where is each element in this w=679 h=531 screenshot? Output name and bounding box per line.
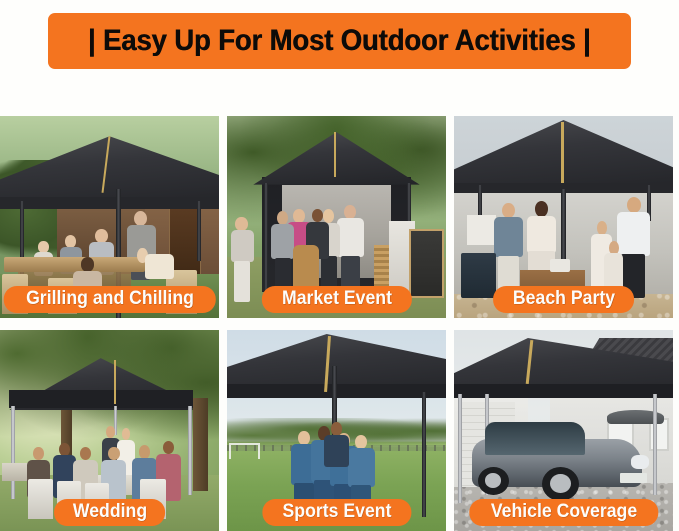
tree-trunk-right (193, 398, 208, 490)
person-torso (145, 254, 173, 279)
person-bystander-left (229, 217, 255, 302)
person-head (344, 205, 356, 219)
person-head (502, 203, 515, 218)
person-head (163, 441, 175, 455)
cell-label-text: Wedding (72, 501, 146, 523)
canopy-gold-trim (561, 122, 564, 183)
suv-license-plate (620, 473, 646, 483)
coach-torso (324, 435, 348, 467)
person-head (597, 221, 608, 235)
use-case-cell-wedding[interactable]: Wedding (0, 330, 219, 531)
person-torso (527, 216, 555, 253)
person-legs (234, 261, 250, 302)
cake-on-table (550, 259, 570, 271)
use-case-cell-grilling-and-chilling[interactable]: Grilling and Chilling (0, 116, 219, 318)
suv-headlight (631, 455, 649, 469)
canopy-left-pole (11, 406, 15, 498)
cell-label-wedding: Wedding (54, 499, 166, 526)
person-head (81, 257, 94, 272)
person-head (108, 447, 120, 461)
wheel-rim (550, 474, 571, 493)
person-torso (231, 230, 254, 262)
cell-label-text: Beach Party (512, 288, 614, 310)
use-case-cell-sports-event[interactable]: Sports Event (227, 330, 446, 531)
canopy-right-pole (197, 201, 201, 262)
wheel-rim (485, 473, 501, 488)
use-case-cell-market-event[interactable]: Market Event (227, 116, 446, 318)
person-torso (494, 217, 523, 257)
canopy-valance (9, 390, 193, 408)
player-jersey (348, 448, 375, 487)
person-head (38, 241, 49, 252)
person-head (235, 217, 247, 231)
person-head (65, 235, 76, 247)
use-case-grid: Grilling and Chilling (0, 116, 673, 531)
cell-label-text: Market Event (281, 288, 391, 310)
player-head (298, 431, 310, 446)
wall-paper-sheet (467, 215, 495, 245)
coach-head (331, 422, 342, 435)
person-head (59, 443, 70, 457)
cell-label-vehicle-coverage: Vehicle Coverage (469, 499, 658, 526)
suv-front-wheel (542, 467, 579, 501)
header-banner-text: | Easy Up For Most Outdoor Activities | (88, 24, 591, 58)
canopy-peak-trim (334, 132, 336, 176)
person-head (535, 201, 548, 217)
person-head (277, 211, 288, 225)
canopy-gold-trim (114, 360, 116, 404)
header-banner: | Easy Up For Most Outdoor Activities | (48, 13, 631, 69)
person-head (106, 426, 115, 437)
cell-label-text: Sports Event (282, 501, 391, 523)
person-head (122, 428, 131, 440)
person-head (312, 209, 323, 223)
canopy-front-left-pole (264, 183, 268, 292)
cell-label-text: Vehicle Coverage (490, 501, 636, 523)
player-head (355, 435, 367, 449)
canopy-valance (0, 197, 219, 209)
person-head (33, 447, 44, 461)
person-head (139, 445, 151, 459)
cell-label-grilling-and-chilling: Grilling and Chilling (3, 286, 216, 313)
suv-rear-wheel (478, 467, 509, 495)
person-torso (337, 218, 364, 257)
use-case-cell-vehicle-coverage[interactable]: Vehicle Coverage (454, 330, 673, 531)
white-chair-1 (28, 479, 52, 519)
canopy-right-pole (653, 394, 657, 495)
canopy-left-pole (458, 394, 462, 503)
canopy-right-pole (188, 406, 192, 494)
cell-label-sports-event: Sports Event (262, 499, 411, 526)
person-torso (271, 224, 294, 260)
cell-label-text: Grilling and Chilling (26, 288, 194, 310)
canopy-right-pole (422, 392, 426, 517)
cell-label-market-event: Market Event (261, 286, 411, 313)
person-head (134, 211, 147, 226)
person-reclining-adult (136, 245, 175, 289)
person-head (80, 447, 92, 461)
coach-center (323, 422, 349, 466)
use-case-cell-beach-party[interactable]: Beach Party (454, 116, 673, 318)
person-head (627, 197, 641, 213)
chalkboard-sign (409, 229, 444, 298)
folding-chair (461, 253, 496, 297)
person-shopper-grey (271, 211, 295, 292)
product-feature-image: | Easy Up For Most Outdoor Activities | (0, 0, 679, 531)
cell-label-beach-party: Beach Party (493, 286, 635, 313)
person-head (95, 229, 108, 243)
suv-windows (485, 422, 586, 454)
soccer-goal (229, 443, 260, 459)
